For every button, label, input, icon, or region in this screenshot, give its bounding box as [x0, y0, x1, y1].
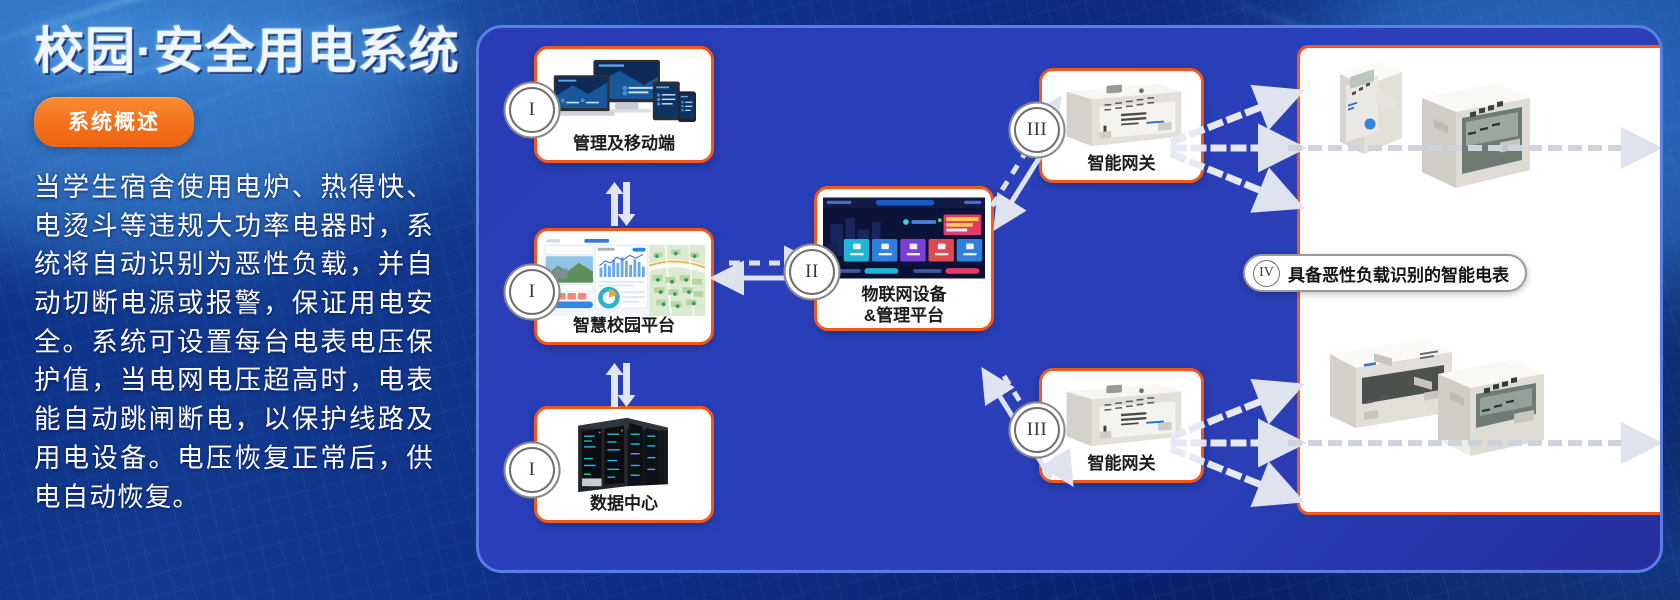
section-badge-system-overview: 系统概述: [34, 97, 194, 147]
connector-gateway-bottom-to-meters: [1174, 394, 1279, 492]
overview-column: 校园·安全用电系统 系统概述 当学生宿舍使用电炉、热得快、电烫斗等违规大功率电器…: [0, 0, 470, 600]
page-title: 校园·安全用电系统: [34, 22, 446, 81]
step-badge-i-management: I: [509, 87, 555, 133]
step-badge-i-datacenter: I: [509, 447, 555, 493]
poster-root: 校园·安全用电系统 系统概述 当学生宿舍使用电炉、热得快、电烫斗等违规大功率电器…: [0, 0, 1680, 600]
step-badge-iii-gateway-bottom: III: [1014, 407, 1060, 453]
connector-layer: [479, 28, 1663, 573]
connector-management-to-campus: [605, 180, 635, 228]
step-badge-i-campus: I: [509, 269, 555, 315]
connector-campus-to-datacenter: [605, 361, 635, 409]
callout-label-smart-meter: 具备恶性负载识别的智能电表: [1288, 261, 1509, 286]
step-badge-ii-iot: II: [789, 249, 835, 295]
architecture-diagram-panel: 管理及移动端 I: [476, 25, 1663, 573]
connector-gateway-top-to-meters: [1174, 100, 1279, 198]
callout-smart-meter[interactable]: IV 具备恶性负载识别的智能电表: [1243, 254, 1527, 292]
step-badge-iv-meter: IV: [1253, 260, 1280, 287]
overview-body-text: 当学生宿舍使用电炉、热得快、电烫斗等违规大功率电器时，系统将自动识别为恶性负载，…: [34, 168, 434, 516]
step-badge-iii-gateway-top: III: [1014, 107, 1060, 153]
